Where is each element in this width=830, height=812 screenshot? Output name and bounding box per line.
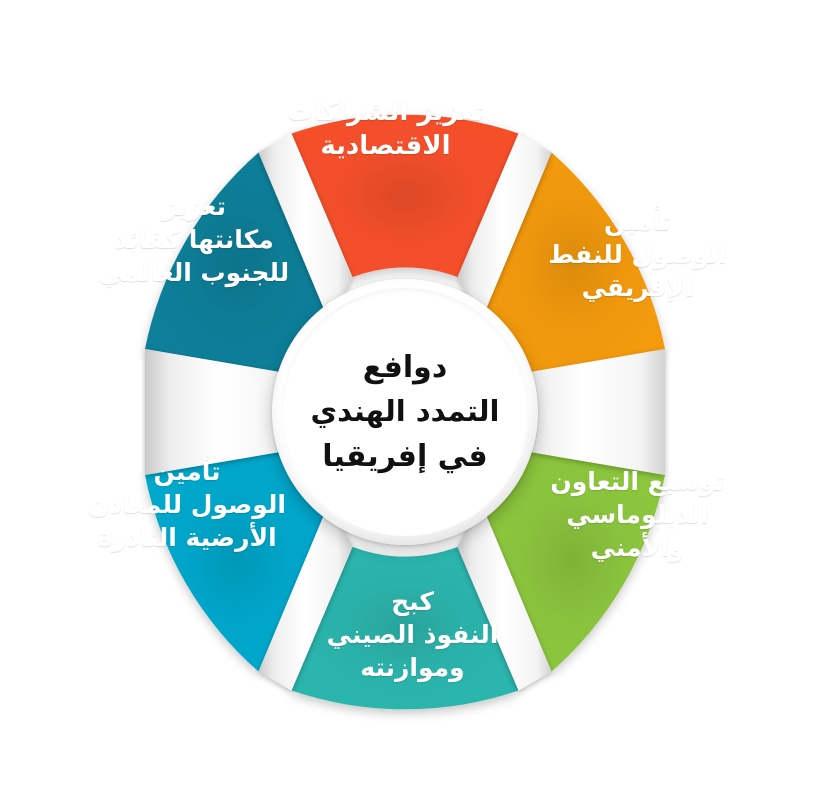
center-hub: دوافع التمدد الهندي في إفريقيا [272,279,538,545]
center-title-line: التمدد الهندي [311,390,500,434]
center-title: دوافع التمدد الهندي في إفريقيا [311,345,500,479]
infographic-root: تعزيز الشراكات الاقتصادية تأمين الوصول ل… [0,0,830,812]
center-title-line: دوافع [311,345,500,390]
center-title-line: في إفريقيا [311,434,500,479]
